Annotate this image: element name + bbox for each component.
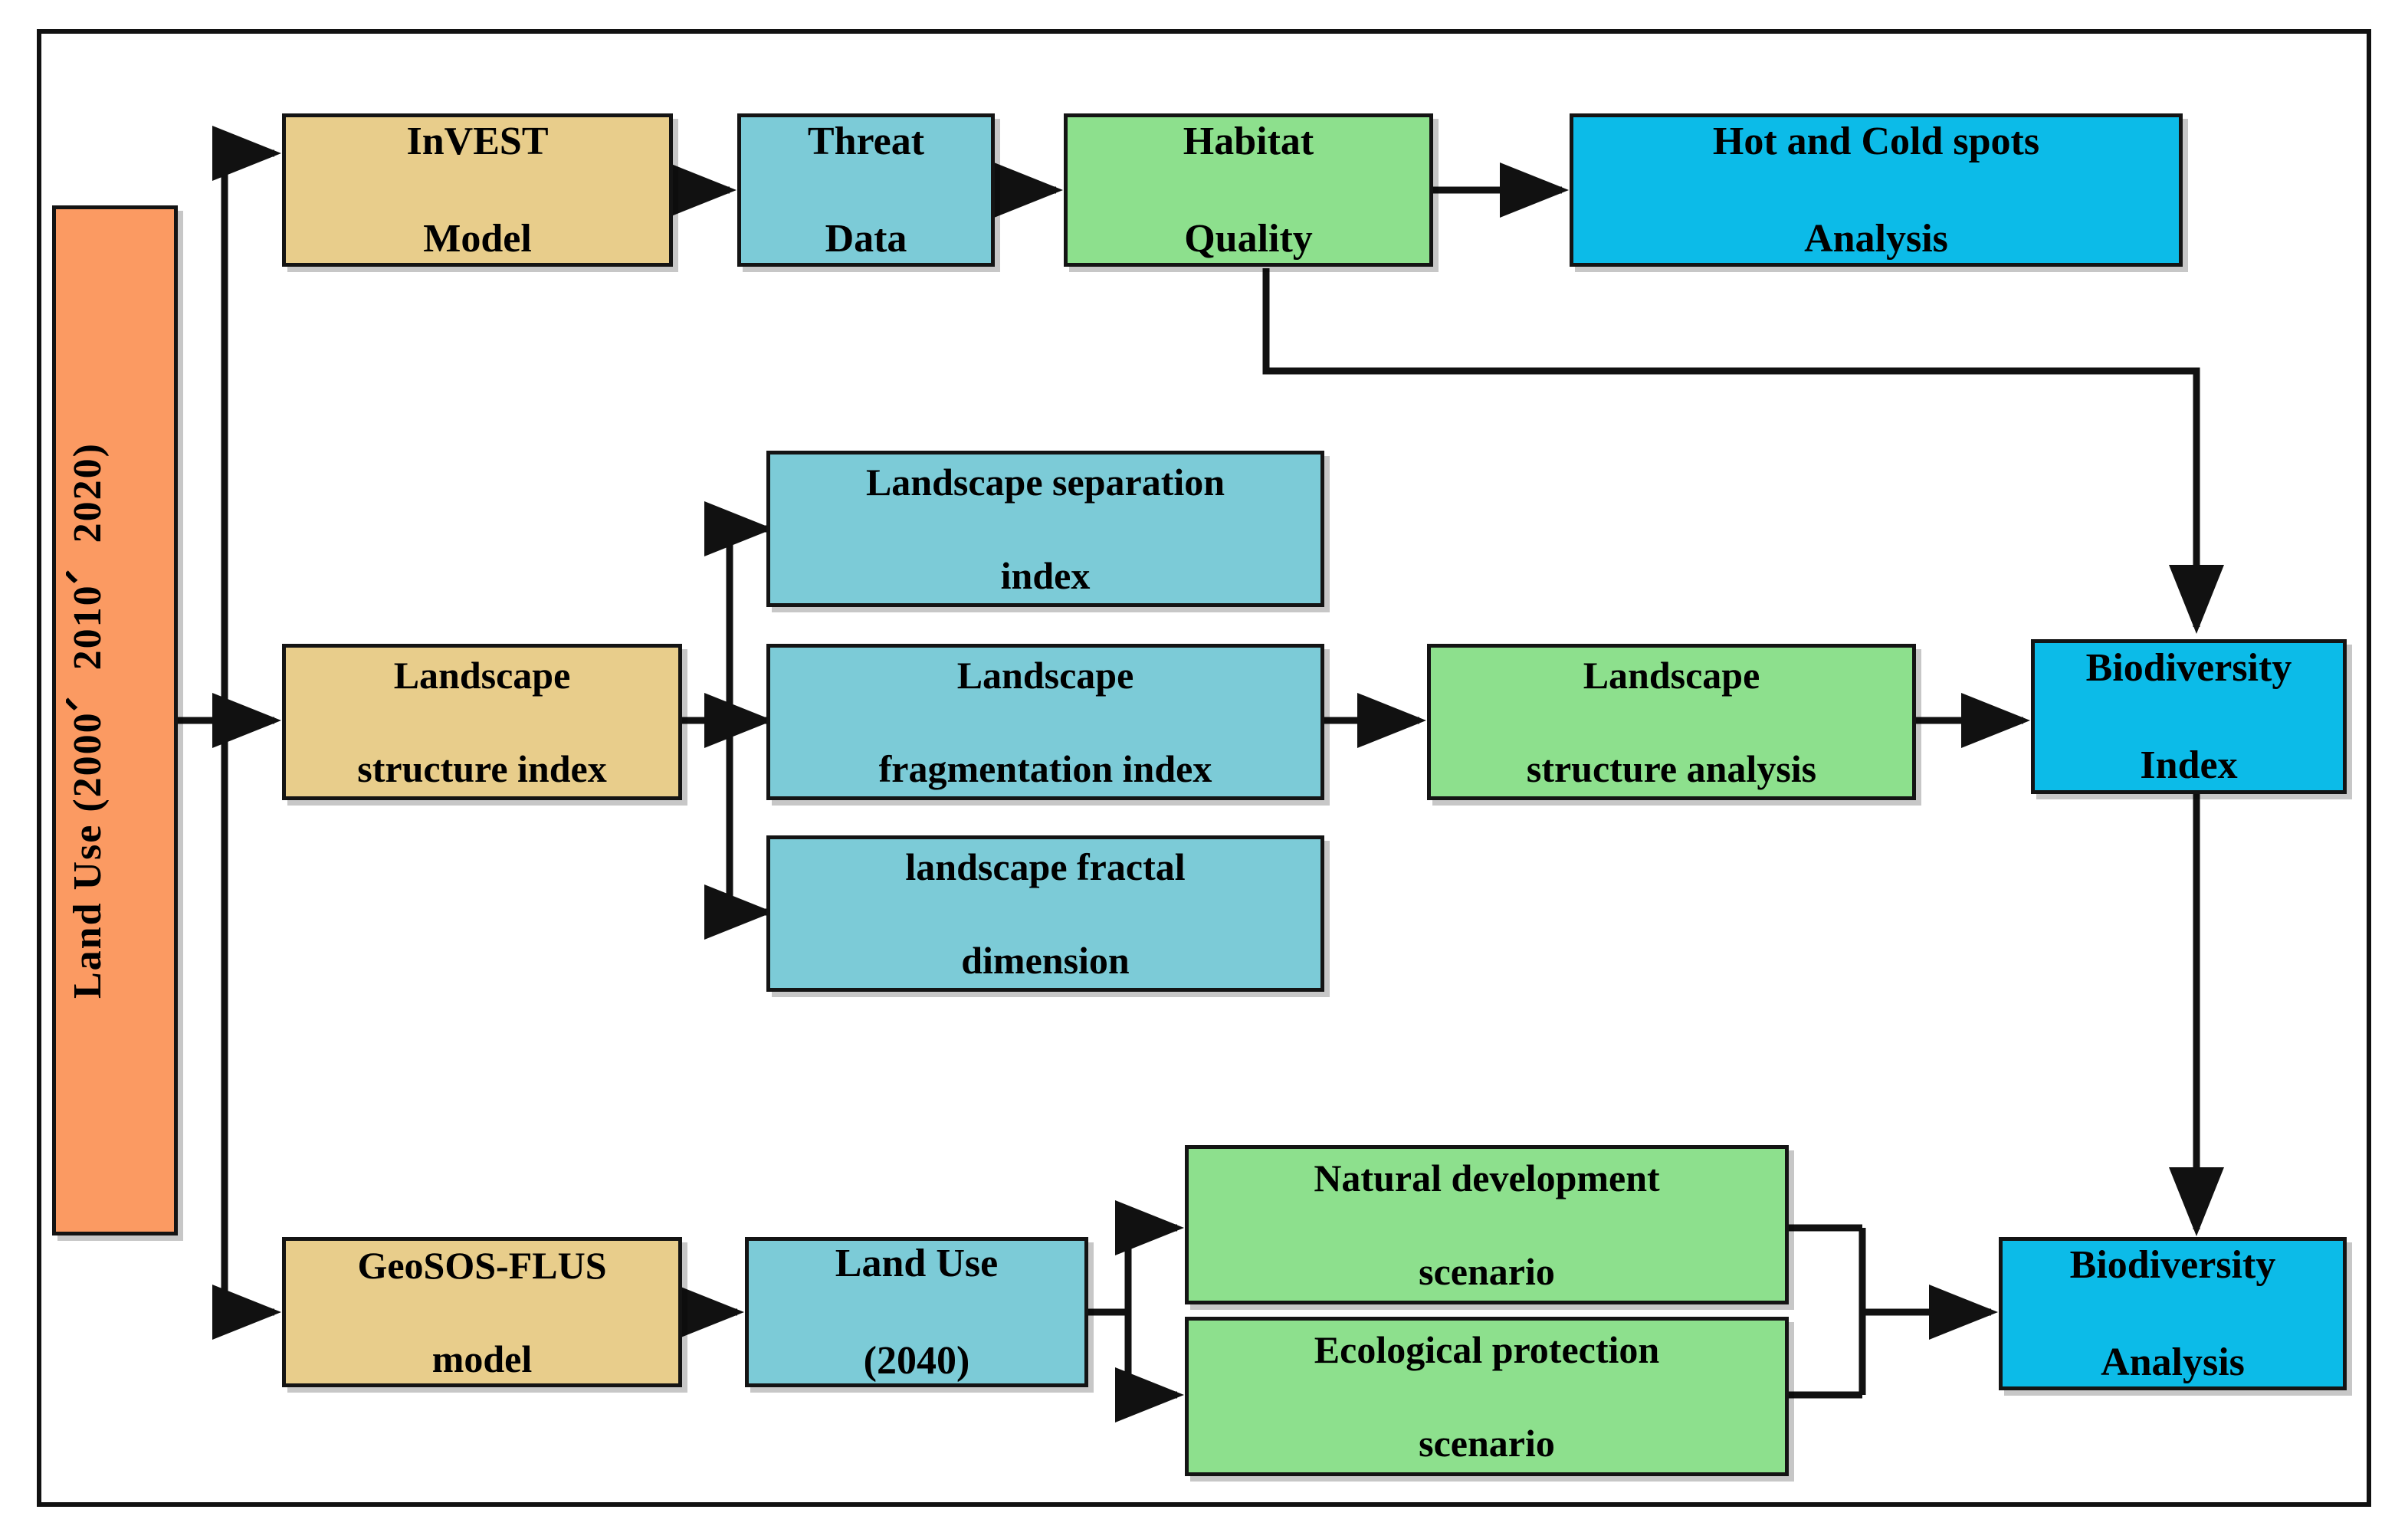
node-biodiversity-index-label-line1: Biodiversity <box>2042 644 2335 692</box>
node-land-use-2040[interactable]: Land Use (2040) <box>745 1237 1088 1387</box>
node-land-use-2040-label-line1: Land Use <box>756 1239 1077 1288</box>
node-lsi-label-line1: Landscape <box>294 652 671 699</box>
node-fragmentation-label-line2: fragmentation index <box>778 746 1313 792</box>
node-invest-model-label-line1: InVEST <box>294 117 661 166</box>
node-threat-data-label-line2: Data <box>749 215 983 263</box>
node-geosos-label-line1: GeoSOS-FLUS <box>294 1242 671 1289</box>
node-lsi-label-line2: structure index <box>294 746 671 792</box>
node-invest-model-label-line2: Model <box>294 215 661 263</box>
node-fractal-label-line2: dimension <box>778 937 1313 984</box>
node-hot-cold-label-line1: Hot and Cold spots <box>1581 117 2171 166</box>
node-hot-cold-spots-analysis[interactable]: Hot and Cold spots Analysis <box>1570 113 2183 267</box>
node-structure-analysis-label-line2: structure analysis <box>1439 746 1904 792</box>
node-landscape-fragmentation-index[interactable]: Landscape fragmentation index <box>766 644 1324 800</box>
node-fractal-label-line1: landscape fractal <box>778 844 1313 891</box>
node-invest-model[interactable]: InVEST Model <box>282 113 673 267</box>
node-structure-analysis-label-line1: Landscape <box>1439 652 1904 699</box>
node-threat-data[interactable]: Threat Data <box>737 113 995 267</box>
node-biodiversity-analysis-label-line1: Biodiversity <box>2010 1241 2335 1289</box>
node-threat-data-label-line1: Threat <box>749 117 983 166</box>
node-landscape-structure-index[interactable]: Landscape structure index <box>282 644 682 800</box>
node-habitat-quality[interactable]: Habitat Quality <box>1064 113 1433 267</box>
node-biodiversity-index[interactable]: Biodiversity Index <box>2031 639 2347 794</box>
node-natural-development-scenario[interactable]: Natural development scenario <box>1185 1145 1789 1304</box>
node-ecological-scenario-label-line2: scenario <box>1196 1420 1777 1467</box>
node-biodiversity-index-label-line2: Index <box>2042 741 2335 789</box>
node-land-use-source-label: Land Use (2000、2010、2020) <box>64 442 166 999</box>
node-ecological-scenario-label-line1: Ecological protection <box>1196 1327 1777 1373</box>
node-fragmentation-label-line1: Landscape <box>778 652 1313 699</box>
node-natural-scenario-label-line2: scenario <box>1196 1249 1777 1295</box>
node-separation-label-line2: index <box>778 553 1313 599</box>
node-landscape-separation-index[interactable]: Landscape separation index <box>766 451 1324 607</box>
node-biodiversity-analysis[interactable]: Biodiversity Analysis <box>1999 1237 2347 1390</box>
node-landscape-structure-analysis[interactable]: Landscape structure analysis <box>1427 644 1916 800</box>
node-geosos-flus-model[interactable]: GeoSOS-FLUS model <box>282 1237 682 1387</box>
node-habitat-quality-label-line2: Quality <box>1075 215 1422 263</box>
node-geosos-label-line2: model <box>294 1336 671 1383</box>
node-habitat-quality-label-line1: Habitat <box>1075 117 1422 166</box>
node-separation-label-line1: Landscape separation <box>778 459 1313 506</box>
node-land-use-source[interactable]: Land Use (2000、2010、2020) <box>52 205 178 1235</box>
node-hot-cold-label-line2: Analysis <box>1581 215 2171 263</box>
node-biodiversity-analysis-label-line2: Analysis <box>2010 1338 2335 1386</box>
flowchart-canvas: Land Use (2000、2010、2020) InVEST Model T… <box>0 0 2408 1539</box>
node-landscape-fractal-dimension[interactable]: landscape fractal dimension <box>766 835 1324 992</box>
node-land-use-2040-label-line2: (2040) <box>756 1337 1077 1385</box>
node-natural-scenario-label-line1: Natural development <box>1196 1155 1777 1202</box>
node-ecological-protection-scenario[interactable]: Ecological protection scenario <box>1185 1317 1789 1476</box>
